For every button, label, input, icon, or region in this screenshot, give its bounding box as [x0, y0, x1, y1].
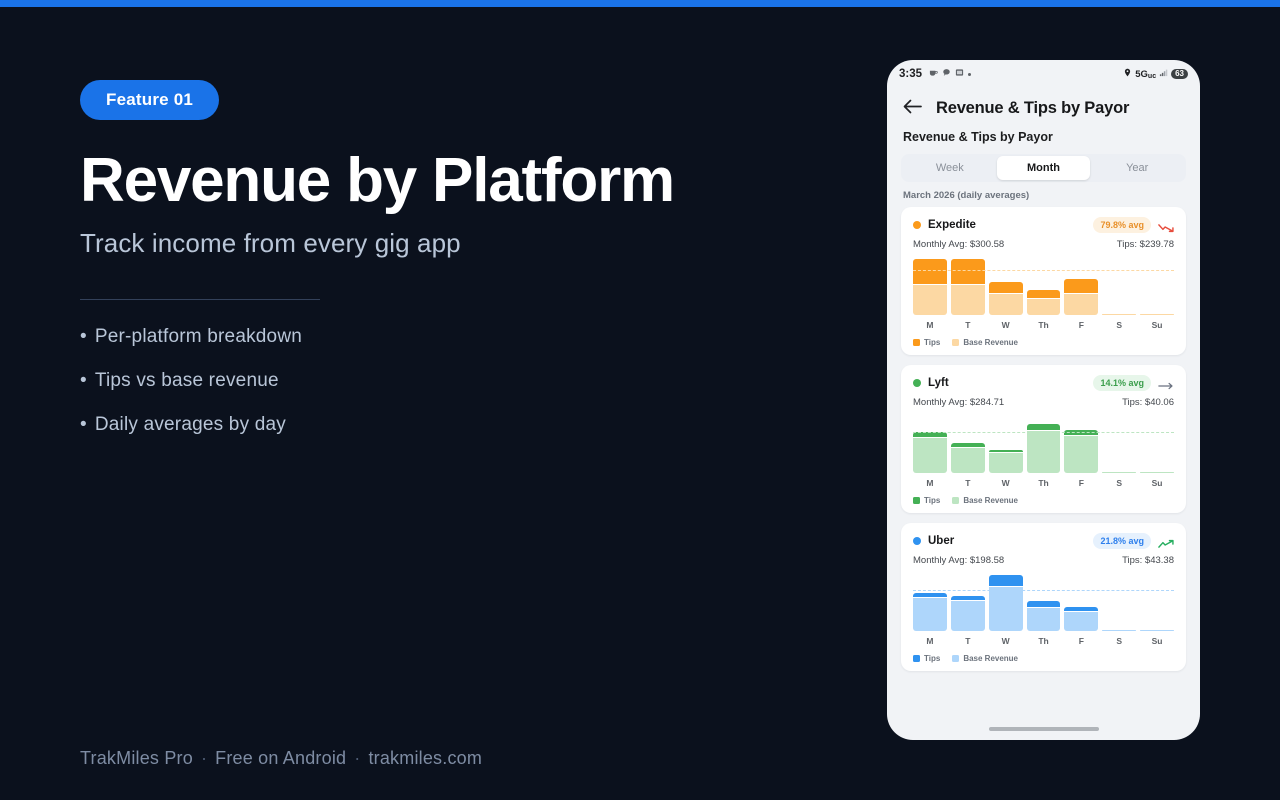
page-subtitle: Track income from every gig app	[80, 228, 840, 259]
battery-indicator: 63	[1171, 69, 1188, 80]
payor-card[interactable]: Expedite79.8% avgMonthly Avg: $300.58Tip…	[901, 207, 1186, 355]
list-item-label: Tips vs base revenue	[95, 370, 279, 391]
bar-segment-tips	[913, 259, 947, 284]
average-badge: 14.1% avg	[1093, 375, 1151, 391]
app-bar: Revenue & Tips by Payor	[887, 88, 1200, 130]
footer-website: trakmiles.com	[368, 748, 482, 768]
tab-month[interactable]: Month	[997, 156, 1091, 180]
bar-column	[1102, 575, 1136, 631]
x-axis-labels: MTWThFSSu	[913, 320, 1174, 330]
day-label: Th	[1027, 478, 1061, 488]
day-label: Th	[1027, 636, 1061, 646]
day-label: S	[1102, 478, 1136, 488]
day-label: M	[913, 636, 947, 646]
bar-column	[1027, 417, 1061, 473]
bar-column	[1140, 417, 1174, 473]
monthly-average-label: Monthly Avg: $284.71	[913, 397, 1004, 408]
monthly-average-label: Monthly Avg: $300.58	[913, 239, 1004, 250]
bar-segment-base	[1140, 472, 1174, 473]
bar-segment-base	[913, 438, 947, 473]
bar-column	[1102, 259, 1136, 315]
list-item: •Tips vs base revenue	[80, 370, 840, 392]
card-header: Expedite79.8% avg	[913, 217, 1174, 233]
app-bar-title: Revenue & Tips by Payor	[936, 99, 1129, 118]
bar-column	[951, 259, 985, 315]
bullet-dot-icon: •	[80, 370, 87, 391]
legend-swatch-tips	[913, 655, 920, 662]
legend-swatch-tips	[913, 497, 920, 504]
coffee-icon	[929, 68, 938, 80]
network-label: 5Guc	[1135, 69, 1156, 80]
average-line	[913, 590, 1174, 591]
x-axis-labels: MTWThFSSu	[913, 478, 1174, 488]
period-segmented-control[interactable]: Week Month Year	[901, 154, 1186, 182]
day-label: W	[989, 478, 1023, 488]
legend-label-base: Base Revenue	[963, 496, 1018, 505]
status-bar: 3:35 5Guc 63	[887, 60, 1200, 88]
bar-segment-tips	[1064, 279, 1098, 293]
card-header: Uber21.8% avg	[913, 533, 1174, 549]
footer: TrakMiles Pro·Free on Android·trakmiles.…	[80, 748, 482, 769]
tab-week[interactable]: Week	[903, 156, 997, 180]
bar-column	[951, 575, 985, 631]
bar-segment-base	[1102, 314, 1136, 315]
bullet-dot-icon: •	[80, 414, 87, 435]
top-accent-bar	[0, 0, 1280, 7]
bar-column	[1027, 575, 1061, 631]
back-arrow-icon[interactable]	[903, 98, 922, 118]
list-item-label: Daily averages by day	[95, 414, 286, 435]
dot-icon	[968, 73, 971, 76]
day-label: M	[913, 478, 947, 488]
left-panel: Feature 01 Revenue by Platform Track inc…	[80, 80, 840, 458]
stacked-bar-chart	[913, 575, 1174, 631]
bar-segment-base	[1140, 630, 1174, 631]
bar-segment-tips	[989, 575, 1023, 586]
page-title: Revenue by Platform	[80, 148, 840, 214]
bar-column	[951, 417, 985, 473]
day-label: F	[1064, 636, 1098, 646]
bar-segment-base	[913, 598, 947, 631]
card-stats: Monthly Avg: $300.58Tips: $239.78	[913, 239, 1174, 250]
image-icon	[955, 68, 964, 80]
tips-total-label: Tips: $239.78	[1117, 239, 1174, 250]
payor-card[interactable]: Lyft14.1% avgMonthly Avg: $284.71Tips: $…	[901, 365, 1186, 513]
list-item-label: Per-platform breakdown	[95, 326, 302, 347]
platform-color-dot-icon	[913, 221, 921, 229]
legend-label-base: Base Revenue	[963, 338, 1018, 347]
home-indicator	[989, 727, 1099, 731]
day-label: Su	[1140, 478, 1174, 488]
bar-column	[1102, 417, 1136, 473]
bar-segment-base	[989, 587, 1023, 631]
day-label: F	[1064, 478, 1098, 488]
tips-total-label: Tips: $43.38	[1122, 555, 1174, 566]
bullet-dot-icon: •	[80, 326, 87, 347]
bar-column	[913, 417, 947, 473]
bar-segment-base	[1102, 630, 1136, 631]
stacked-bar-chart	[913, 259, 1174, 315]
platform-name: Expedite	[928, 219, 976, 231]
bar-column	[1064, 575, 1098, 631]
chat-bubble-icon	[942, 68, 951, 80]
day-label: W	[989, 320, 1023, 330]
tips-total-label: Tips: $40.06	[1122, 397, 1174, 408]
bar-segment-base	[1140, 314, 1174, 315]
legend-label-tips: Tips	[924, 654, 940, 663]
bar-column	[1064, 259, 1098, 315]
footer-availability: Free on Android	[215, 748, 346, 768]
section-title: Revenue & Tips by Payor	[887, 130, 1200, 144]
day-label: T	[951, 478, 985, 488]
card-stats: Monthly Avg: $198.58Tips: $43.38	[913, 555, 1174, 566]
bar-segment-base	[1064, 436, 1098, 473]
bar-column	[989, 259, 1023, 315]
day-label: W	[989, 636, 1023, 646]
legend-label-tips: Tips	[924, 496, 940, 505]
platform-name: Uber	[928, 535, 954, 547]
day-label: T	[951, 636, 985, 646]
bar-segment-base	[1064, 294, 1098, 315]
bar-column	[1140, 259, 1174, 315]
tab-year[interactable]: Year	[1090, 156, 1184, 180]
bar-column	[989, 417, 1023, 473]
status-time: 3:35	[899, 68, 922, 80]
bar-segment-tips	[951, 259, 985, 284]
day-label: F	[1064, 320, 1098, 330]
bar-column	[1140, 575, 1174, 631]
legend-swatch-base	[952, 655, 959, 662]
day-label: S	[1102, 320, 1136, 330]
bar-segment-base	[1064, 612, 1098, 631]
platform-name: Lyft	[928, 377, 949, 389]
average-line	[913, 270, 1174, 271]
legend-label-base: Base Revenue	[963, 654, 1018, 663]
list-item: •Per-platform breakdown	[80, 326, 840, 348]
signal-bars-icon	[1159, 68, 1168, 80]
chart-legend: TipsBase Revenue	[913, 338, 1174, 347]
location-pin-icon	[1123, 68, 1132, 80]
platform-color-dot-icon	[913, 379, 921, 387]
legend-swatch-base	[952, 339, 959, 346]
bar-column	[989, 575, 1023, 631]
bar-segment-base	[1027, 299, 1061, 315]
trend-up-icon	[1158, 536, 1174, 546]
bar-segment-base	[951, 448, 985, 473]
monthly-average-label: Monthly Avg: $198.58	[913, 555, 1004, 566]
day-label: S	[1102, 636, 1136, 646]
bar-column	[913, 575, 947, 631]
bar-segment-base	[951, 285, 985, 315]
list-item: •Daily averages by day	[80, 414, 840, 436]
trend-down-icon	[1158, 220, 1174, 230]
bar-segment-base	[951, 601, 985, 631]
bar-column	[1027, 259, 1061, 315]
bar-segment-tips	[989, 282, 1023, 293]
bar-column	[913, 259, 947, 315]
average-badge: 21.8% avg	[1093, 533, 1151, 549]
stacked-bar-chart	[913, 417, 1174, 473]
footer-separator: ·	[193, 748, 215, 768]
day-label: Su	[1140, 636, 1174, 646]
card-stats: Monthly Avg: $284.71Tips: $40.06	[913, 397, 1174, 408]
platform-color-dot-icon	[913, 537, 921, 545]
x-axis-labels: MTWThFSSu	[913, 636, 1174, 646]
status-bar-right: 5Guc 63	[1123, 68, 1188, 80]
card-header: Lyft14.1% avg	[913, 375, 1174, 391]
day-label: T	[951, 320, 985, 330]
divider	[80, 299, 320, 300]
phone-mockup: 3:35 5Guc 63 Revenue &	[887, 60, 1200, 740]
footer-product: TrakMiles Pro	[80, 748, 193, 768]
bar-segment-base	[1027, 608, 1061, 631]
bar-segment-tips	[1027, 290, 1061, 298]
payor-card-list: Expedite79.8% avgMonthly Avg: $300.58Tip…	[887, 207, 1200, 671]
day-label: Th	[1027, 320, 1061, 330]
chart-legend: TipsBase Revenue	[913, 654, 1174, 663]
bar-segment-base	[1027, 431, 1061, 473]
bar-segment-base	[989, 294, 1023, 315]
period-note: March 2026 (daily averages)	[887, 182, 1200, 207]
legend-swatch-tips	[913, 339, 920, 346]
bar-column	[1064, 417, 1098, 473]
day-label: M	[913, 320, 947, 330]
average-badge: 79.8% avg	[1093, 217, 1151, 233]
bar-segment-base	[989, 453, 1023, 473]
trend-flat-icon	[1158, 378, 1174, 388]
chart-legend: TipsBase Revenue	[913, 496, 1174, 505]
feature-badge: Feature 01	[80, 80, 219, 120]
legend-label-tips: Tips	[924, 338, 940, 347]
bar-segment-base	[913, 285, 947, 315]
payor-card[interactable]: Uber21.8% avgMonthly Avg: $198.58Tips: $…	[901, 523, 1186, 671]
bar-segment-base	[1102, 472, 1136, 473]
day-label: Su	[1140, 320, 1174, 330]
average-line	[913, 432, 1174, 433]
legend-swatch-base	[952, 497, 959, 504]
feature-list: •Per-platform breakdown •Tips vs base re…	[80, 326, 840, 436]
status-bar-left: 3:35	[899, 68, 971, 80]
footer-separator: ·	[346, 748, 368, 768]
